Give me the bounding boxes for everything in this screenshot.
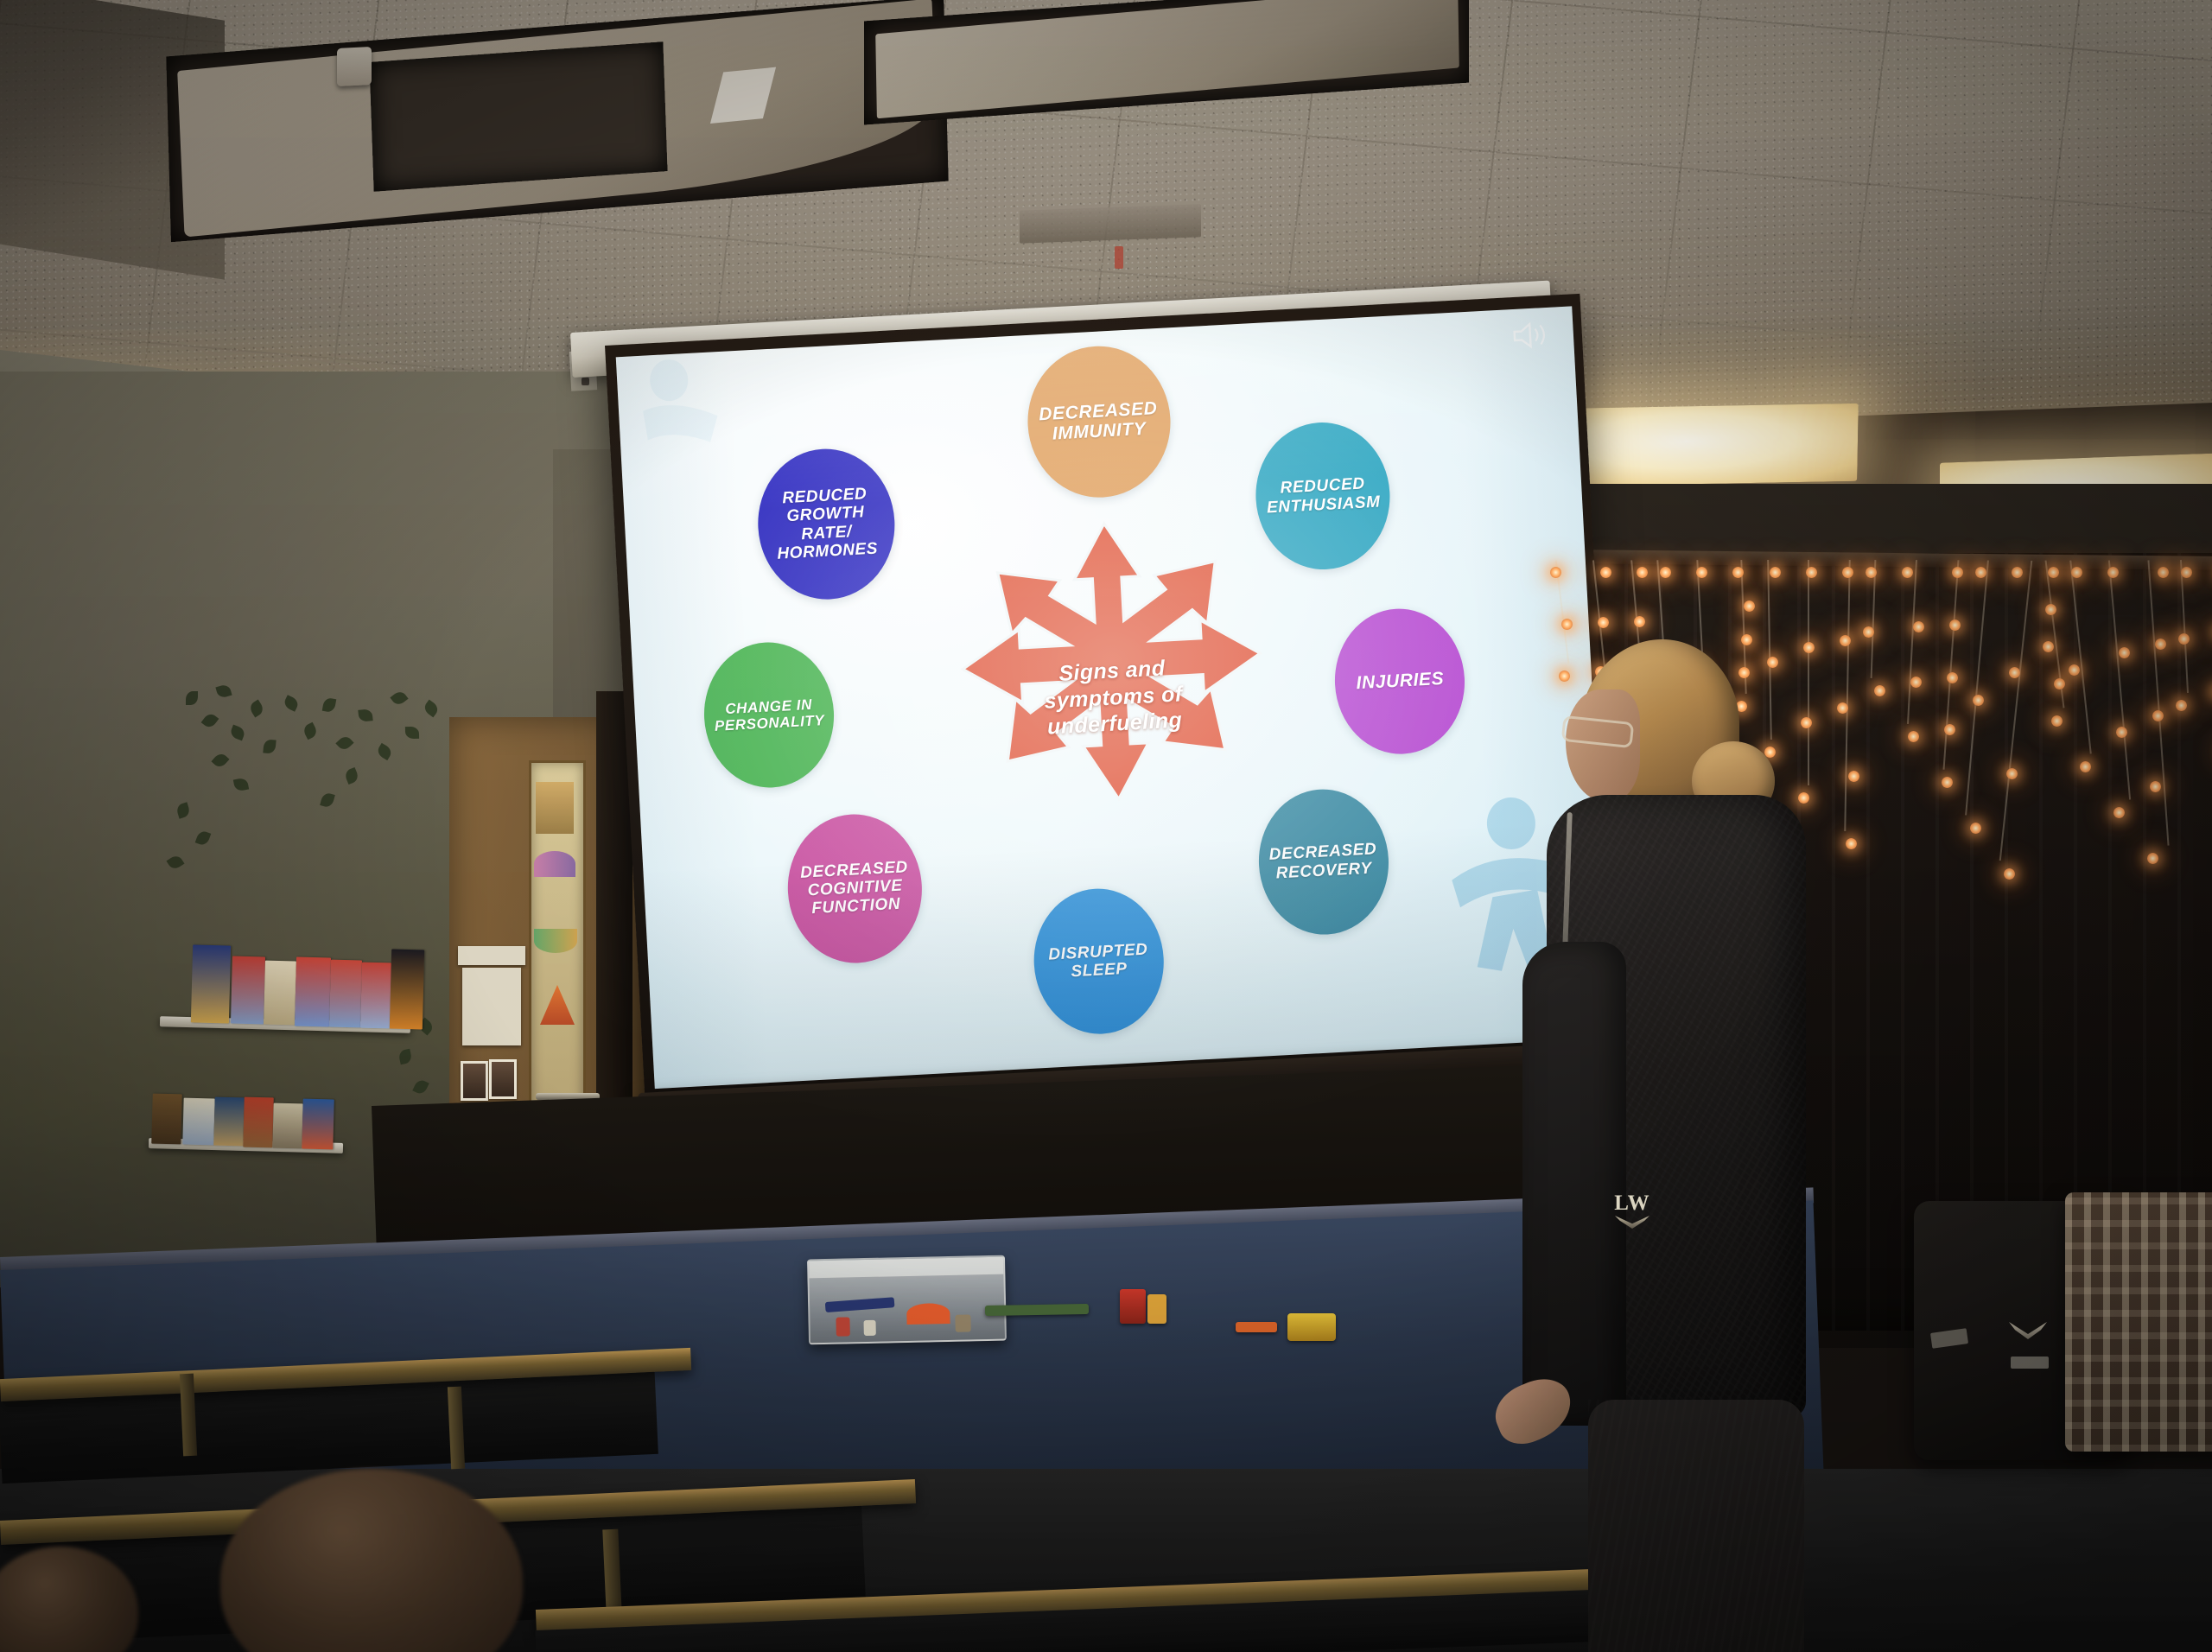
ceiling-marker bbox=[1115, 246, 1123, 269]
fairy-light-bulb bbox=[2048, 567, 2059, 578]
fairy-light-bulb bbox=[2176, 700, 2187, 711]
screen-housing-screw bbox=[582, 378, 589, 385]
fairy-light-bulb bbox=[1944, 724, 1955, 735]
ceiling-recess bbox=[369, 41, 667, 191]
underfueling-diagram: Signs and symptoms of underfueling DECRE… bbox=[616, 306, 1611, 1089]
fairy-light-bulb bbox=[1660, 567, 1671, 578]
fairy-light-bulb bbox=[2178, 633, 2190, 645]
door-glass-poster-3 bbox=[534, 929, 577, 953]
fairy-light-wire bbox=[2108, 560, 2131, 799]
projected-slide: Signs and symptoms of underfueling DECRE… bbox=[616, 306, 1611, 1089]
toy-ramp bbox=[985, 1304, 1089, 1316]
lw-logo: LW bbox=[1609, 1192, 1656, 1242]
book-item bbox=[182, 1098, 214, 1146]
bubble-label: CHANGE IN PERSONALITY bbox=[709, 696, 829, 734]
diagram-center-label: Signs and symptoms of underfueling bbox=[1020, 653, 1206, 742]
fairy-light-bulb bbox=[1949, 619, 1961, 631]
fairy-light-bulb bbox=[2150, 781, 2161, 792]
bubble-decreased-immunity: DECREASED IMMUNITY bbox=[1023, 342, 1173, 501]
chevron-logo-icon bbox=[2009, 1322, 2047, 1339]
bubble-label: DECREASED RECOVERY bbox=[1263, 840, 1384, 883]
fairy-light-bulb bbox=[2119, 647, 2130, 658]
fairy-light-bulb bbox=[1842, 567, 1853, 578]
book-item bbox=[295, 956, 331, 1026]
bubble-label: REDUCED ENTHUSIASM bbox=[1261, 474, 1386, 518]
bubble-label: INJURIES bbox=[1356, 669, 1445, 694]
projector-screen: Signs and symptoms of underfueling DECRE… bbox=[605, 294, 1620, 1105]
bubble-reduced-growth-rate: REDUCED GROWTH RATE/ HORMONES bbox=[753, 445, 898, 602]
fairy-light-bulb bbox=[2116, 727, 2127, 738]
fairy-light-bulb bbox=[2012, 567, 2023, 578]
toy-box-yellow bbox=[1147, 1294, 1166, 1324]
fairy-light-bulb bbox=[2158, 567, 2169, 578]
book-item bbox=[213, 1097, 244, 1147]
tartan-bag bbox=[2065, 1192, 2212, 1452]
fairy-light-bulb bbox=[1942, 777, 1953, 788]
fairy-light-bulb bbox=[1913, 621, 1924, 632]
fairy-light-bulb bbox=[1744, 600, 1755, 612]
toy-block-3 bbox=[955, 1314, 970, 1331]
fairy-light-bulb bbox=[1947, 672, 1958, 683]
presenter-legs bbox=[1588, 1400, 1804, 1652]
book-item bbox=[191, 944, 231, 1023]
toy-box-red bbox=[1120, 1289, 1146, 1324]
fairy-light-bulb bbox=[2113, 807, 2125, 818]
fairy-light-bulb bbox=[2155, 639, 2166, 650]
fairy-light-bulb bbox=[1696, 567, 1707, 578]
book-item bbox=[390, 950, 424, 1030]
fairy-light-wire bbox=[2180, 560, 2189, 693]
toy-vehicle bbox=[1287, 1313, 1336, 1341]
presenter: LW bbox=[1503, 639, 1918, 1642]
fairy-light-bulb bbox=[1637, 567, 1648, 578]
door-photo-2 bbox=[489, 1059, 517, 1099]
fairy-light-wire bbox=[1999, 561, 2032, 861]
fairy-light-bulb bbox=[2147, 853, 2158, 864]
fairy-light-bulb bbox=[1952, 567, 1963, 578]
fairy-light-wire bbox=[1943, 560, 1960, 770]
fairy-light-bulb bbox=[2043, 641, 2054, 652]
book-item bbox=[243, 1096, 274, 1147]
door-notice bbox=[462, 968, 521, 1045]
fairy-light-bulb bbox=[2152, 710, 2164, 721]
fairy-light-bulb bbox=[2080, 761, 2091, 772]
fairy-light-bulb bbox=[1634, 616, 1645, 627]
fairy-light-bulb bbox=[1598, 617, 1609, 628]
fairy-light-bulb bbox=[2051, 715, 2063, 727]
lw-logo-text: LW bbox=[1614, 1192, 1649, 1214]
storage-tub bbox=[807, 1255, 1007, 1345]
classroom-scene: Signs and symptoms of underfueling DECRE… bbox=[0, 0, 2212, 1652]
book-item bbox=[272, 1102, 302, 1148]
door-glass-poster-1 bbox=[536, 782, 574, 834]
fairy-light-bulb bbox=[2107, 567, 2119, 578]
toy-aeroplane bbox=[825, 1297, 895, 1312]
backpack-tag-2 bbox=[1930, 1328, 1968, 1349]
fairy-light-bulb bbox=[2054, 678, 2065, 689]
fairy-light-bulb bbox=[2004, 868, 2015, 880]
book-item bbox=[360, 963, 391, 1029]
toy-dome bbox=[906, 1303, 950, 1325]
bubble-injuries: INJURIES bbox=[1332, 606, 1469, 758]
bubble-label: DISRUPTED SLEEP bbox=[1038, 940, 1159, 983]
fairy-light-bulb bbox=[2181, 567, 2192, 578]
ceiling-vent bbox=[1020, 204, 1201, 243]
book-item bbox=[302, 1099, 334, 1150]
door-photo-1 bbox=[461, 1061, 488, 1101]
fairy-light-bulb bbox=[1970, 823, 1981, 834]
toy-strip bbox=[1236, 1322, 1277, 1332]
fairy-light-bulb bbox=[2045, 604, 2056, 615]
bubble-label: DECREASED COGNITIVE FUNCTION bbox=[791, 858, 918, 919]
book-item bbox=[151, 1094, 182, 1145]
fairy-light-bulb bbox=[1973, 695, 1984, 706]
toy-block-1 bbox=[836, 1317, 849, 1336]
door-glass-poster-2 bbox=[534, 851, 575, 877]
fairy-light-wire bbox=[1965, 560, 1989, 815]
storage-tub-lid bbox=[809, 1257, 1003, 1279]
fairy-light-bulb bbox=[1866, 567, 1877, 578]
ceiling-gap bbox=[710, 67, 776, 123]
bubble-label: DECREASED IMMUNITY bbox=[1032, 398, 1166, 446]
ivy-leaf bbox=[405, 727, 419, 739]
fairy-light-bulb bbox=[2006, 768, 2018, 779]
fairy-light-bulb bbox=[1732, 567, 1744, 578]
fairy-light-bulb bbox=[1550, 567, 1561, 578]
fairy-light-wire bbox=[2147, 560, 2169, 845]
fairy-light-bulb bbox=[1806, 567, 1817, 578]
toy-block-2 bbox=[863, 1320, 875, 1336]
fairy-light-bulb bbox=[1561, 619, 1573, 630]
ceiling-light-right bbox=[1546, 403, 1859, 486]
bubble-disrupted-sleep: DISRUPTED SLEEP bbox=[1030, 886, 1167, 1038]
book-item bbox=[231, 956, 265, 1025]
book-item bbox=[329, 959, 362, 1027]
smoke-detector-icon bbox=[337, 47, 372, 86]
book-item bbox=[264, 961, 296, 1026]
door-bracket bbox=[458, 946, 525, 965]
bubble-decreased-cognitive: DECREASED COGNITIVE FUNCTION bbox=[785, 810, 926, 966]
wing-icon bbox=[1615, 1216, 1649, 1229]
backpack-tag bbox=[2011, 1357, 2049, 1369]
fairy-light-bulb bbox=[2071, 567, 2082, 578]
fairy-light-bulb bbox=[1975, 567, 1986, 578]
fairy-light-bulb bbox=[1600, 567, 1611, 578]
bubble-change-in-personality: CHANGE IN PERSONALITY bbox=[701, 639, 838, 791]
fairy-light-bulb bbox=[1770, 567, 1781, 578]
bubble-label: REDUCED GROWTH RATE/ HORMONES bbox=[761, 484, 891, 564]
fairy-light-bulb bbox=[1863, 626, 1874, 638]
presenter-arm bbox=[1522, 942, 1626, 1426]
fairy-light-bulb bbox=[2069, 664, 2080, 676]
fairy-light-wire bbox=[2069, 561, 2092, 754]
fairy-light-bulb bbox=[1902, 567, 1913, 578]
